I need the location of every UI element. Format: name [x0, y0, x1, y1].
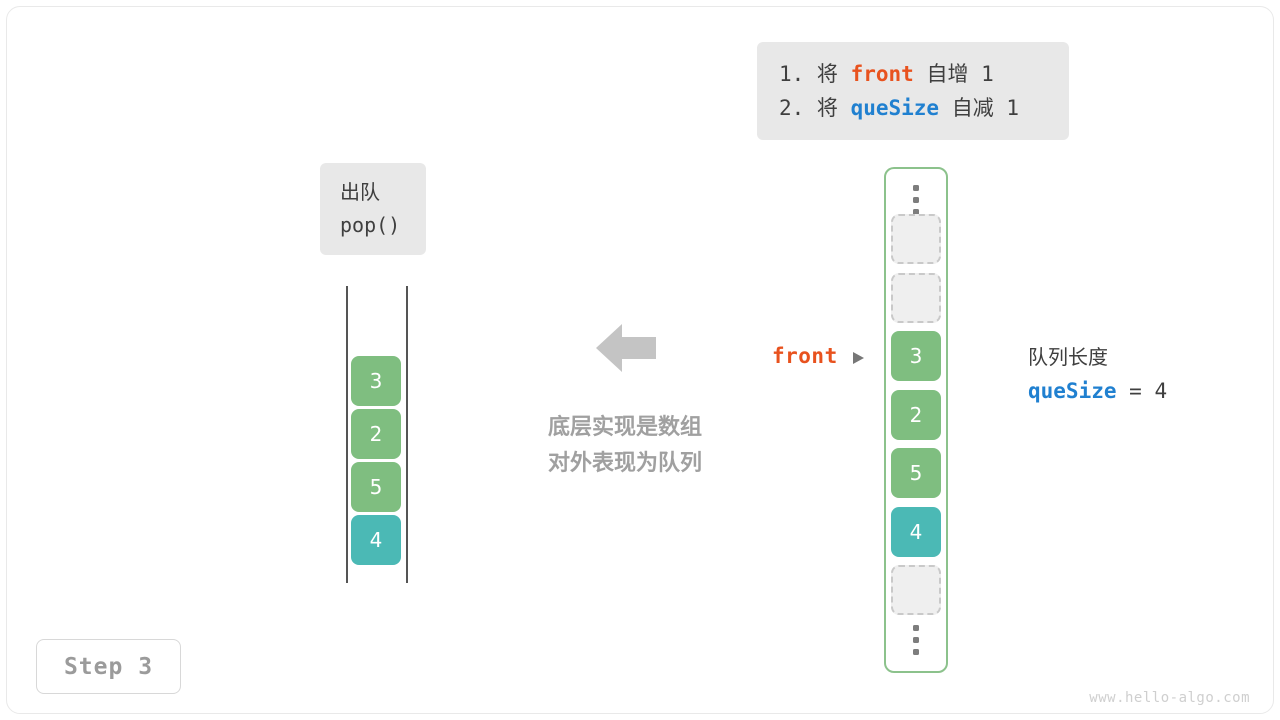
array-slot: 2 — [891, 390, 941, 440]
queue-cell-value: 2 — [370, 422, 383, 446]
array-slot-value: 4 — [910, 520, 923, 544]
queue-rail-left — [346, 286, 348, 583]
pop-operation-label-box: 出队 pop() — [320, 163, 426, 255]
queue-size-note-title: 队列长度 — [1028, 341, 1167, 373]
array-slot: 3 — [891, 331, 941, 381]
queue-rail-right — [406, 286, 408, 583]
step-badge: Step 3 — [36, 639, 181, 694]
array-slot-empty — [891, 273, 941, 323]
left-arrow-icon — [596, 322, 656, 374]
operation-note-line-2-suffix: 自减 1 — [939, 96, 1019, 120]
center-caption: 底层实现是数组 对外表现为队列 — [500, 410, 750, 482]
pop-label-title: 出队 — [340, 176, 426, 209]
queue-cell: 3 — [351, 356, 401, 406]
step-badge-label: Step 3 — [64, 654, 153, 680]
queue-cell: 4 — [351, 515, 401, 565]
front-pointer-label: front — [772, 344, 838, 368]
diagram-canvas: 1. 将 front 自增 1 2. 将 queSize 自减 1 出队 pop… — [0, 0, 1280, 720]
array-slot: 5 — [891, 448, 941, 498]
queue-size-equals: = — [1117, 379, 1155, 403]
center-caption-line-1: 底层实现是数组 — [500, 410, 750, 446]
operation-note-line-1: 1. 将 front 自增 1 — [779, 57, 1069, 91]
center-caption-line-2: 对外表现为队列 — [500, 446, 750, 482]
operation-note-line-2-prefix: 2. 将 — [779, 96, 851, 120]
ellipsis-top-icon — [913, 185, 919, 215]
operation-note-line-1-prefix: 1. 将 — [779, 62, 851, 86]
queue-size-note: 队列长度 queSize = 4 — [1028, 341, 1167, 409]
array-container: 3254 — [884, 167, 948, 673]
queue-size-note-expression: queSize = 4 — [1028, 373, 1167, 409]
array-slot-value: 2 — [910, 403, 923, 427]
array-slot-empty — [891, 565, 941, 615]
array-slot-empty — [891, 214, 941, 264]
queue-size-var-name: queSize — [1028, 379, 1117, 403]
operation-note-line-1-keyword: front — [851, 62, 914, 86]
operation-note-box: 1. 将 front 自增 1 2. 将 queSize 自减 1 — [757, 42, 1069, 140]
queue-cell-value: 5 — [370, 475, 383, 499]
array-slot: 4 — [891, 507, 941, 557]
queue-cell-value: 3 — [370, 369, 383, 393]
watermark: www.hello-algo.com — [1089, 690, 1250, 706]
pop-label-method: pop() — [340, 209, 426, 242]
ellipsis-bottom-icon — [913, 625, 919, 655]
array-slot-value: 5 — [910, 461, 923, 485]
operation-note-line-1-suffix: 自增 1 — [914, 62, 994, 86]
front-pointer-arrowhead-icon — [853, 352, 864, 364]
operation-note-line-2-keyword: queSize — [851, 96, 940, 120]
operation-note-line-2: 2. 将 queSize 自减 1 — [779, 91, 1069, 125]
queue-cell-value: 4 — [370, 528, 383, 552]
queue-size-value: 4 — [1154, 379, 1167, 403]
array-slot-value: 3 — [910, 344, 923, 368]
queue-cell: 5 — [351, 462, 401, 512]
queue-cell: 2 — [351, 409, 401, 459]
